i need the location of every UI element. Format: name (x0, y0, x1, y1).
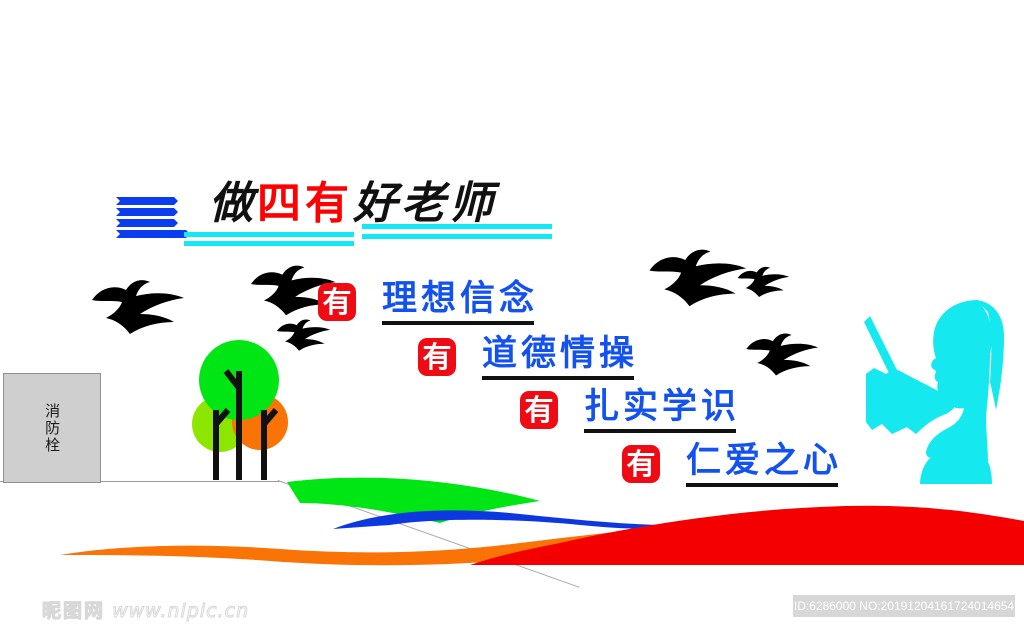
slogan-row: 有 理想信念 (318, 282, 538, 322)
fire-hydrant-label: 消防栓 (42, 403, 62, 454)
blue-ribbon (333, 510, 700, 529)
headline-underline-1 (184, 232, 354, 237)
book-stack-icon (112, 194, 194, 240)
swallow-icon (650, 250, 747, 307)
watermark-url: www.nipic.cn (112, 600, 249, 622)
headline-underline-3 (362, 224, 552, 229)
bird-group-left (80, 250, 330, 370)
slogan-row: 有 道德情操 (418, 337, 638, 377)
slogan-underline (482, 376, 634, 380)
headline-underline-2 (184, 241, 354, 246)
watermark-brand: 昵图网 (42, 600, 105, 622)
headline-text: 做四有好老师 (209, 182, 497, 226)
headline-block: 做四有好老师 (112, 186, 572, 248)
slogan-text: 理想信念 (382, 282, 538, 317)
slogan-text: 扎实学识 (584, 390, 740, 425)
you-badge: 有 (318, 283, 356, 321)
swallow-icon (738, 267, 790, 297)
watermark: 昵图网 www.nipic.cn (42, 596, 249, 623)
ribbon-group (0, 455, 1024, 565)
swallow-icon (277, 319, 330, 350)
red-ribbon (470, 506, 1024, 565)
slogan-text: 道德情操 (482, 337, 638, 372)
headline-seg-2: 四有 (257, 178, 353, 229)
slogan-underline (584, 429, 736, 433)
headline-seg-1: 做 (209, 178, 257, 229)
slogan-underline (382, 321, 534, 325)
bird-group-right (625, 218, 845, 368)
you-badge: 有 (520, 391, 558, 429)
swallow-icon (92, 280, 184, 334)
headline-underline-4 (362, 234, 552, 239)
headline-seg-3: 好老师 (353, 178, 497, 229)
slogan-row: 有 扎实学识 (520, 390, 740, 430)
image-id-tag: ID:6286000 NO:20191204161724014654 (793, 595, 1015, 617)
wall-mural-canvas: 消防栓 (0, 0, 1024, 630)
swallow-icon (746, 333, 818, 375)
you-badge: 有 (418, 338, 456, 376)
